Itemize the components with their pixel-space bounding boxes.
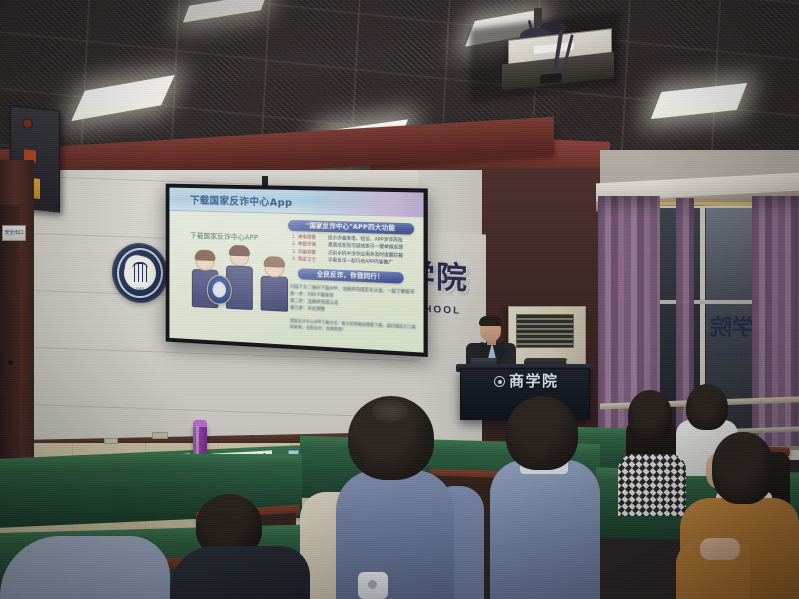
audience-member-head — [686, 384, 728, 430]
exit-sign: 安全出口 — [2, 225, 26, 241]
projector-lens-icon — [540, 73, 562, 84]
audience-member-head — [506, 396, 578, 470]
emblem-gate-icon — [132, 262, 148, 282]
cartoon-officer — [259, 255, 290, 312]
podium-emblem-icon — [494, 376, 505, 387]
audience-member-shoulder — [0, 536, 170, 599]
audience-member-body — [336, 470, 454, 599]
audience-member-body — [170, 546, 310, 599]
emblem-year-label: 1902 — [120, 287, 160, 291]
audience-member-hands — [700, 538, 740, 560]
curtain-panel-right[interactable] — [752, 196, 799, 446]
slide-title-bar-accent — [313, 190, 424, 217]
presentation-slide: 下载国家反诈中心App 下载国家反诈中心APP — [169, 188, 423, 353]
window-reflection-chinese: 学院 — [710, 316, 754, 372]
audience-member-head — [712, 432, 774, 504]
podium-school-name: 商学院 — [509, 374, 573, 389]
water-bottle-cap — [193, 420, 207, 427]
audience-member-head — [628, 390, 672, 440]
speaker-cone-icon — [22, 117, 33, 129]
exit-sign-label: 安全出口 — [3, 226, 25, 240]
door-panel[interactable] — [0, 205, 20, 485]
window-reflection-english: SCHOOL — [710, 352, 754, 358]
air-conditioner-vent-icon — [516, 314, 574, 348]
slide-feature-list: 1. 来电预警 提示诈骗来电、短信、APP涉诈风险 2. 举报诈骗 遭遇或发现可… — [292, 234, 416, 268]
screen-surface: 下载国家反诈中心App 下载国家反诈中心APP — [169, 188, 423, 353]
wall-socket — [104, 438, 118, 444]
presenter-hair — [479, 316, 502, 326]
audience-member-body — [618, 454, 686, 516]
audience-member-body — [490, 460, 600, 599]
handheld-device-button — [368, 580, 377, 589]
slide-title: 下载国家反诈中心App — [190, 192, 292, 209]
window-rail — [656, 300, 756, 304]
feature-key: 4. 我是卫士 — [292, 256, 324, 265]
police-badge-inner — [213, 282, 226, 298]
projection-screen: 下载国家反诈中心App 下载国家反诈中心APP — [166, 184, 428, 357]
lecture-hall-photo: 安全出口 1902 学院 SCHOOL 下载国家反诈中心App 下载国家反诈中心… — [0, 0, 799, 599]
wall-socket — [152, 432, 168, 439]
slide-illustration-police-trio — [190, 245, 290, 312]
door-handle[interactable] — [8, 360, 13, 365]
audience-member-hair-highlight — [372, 400, 408, 422]
